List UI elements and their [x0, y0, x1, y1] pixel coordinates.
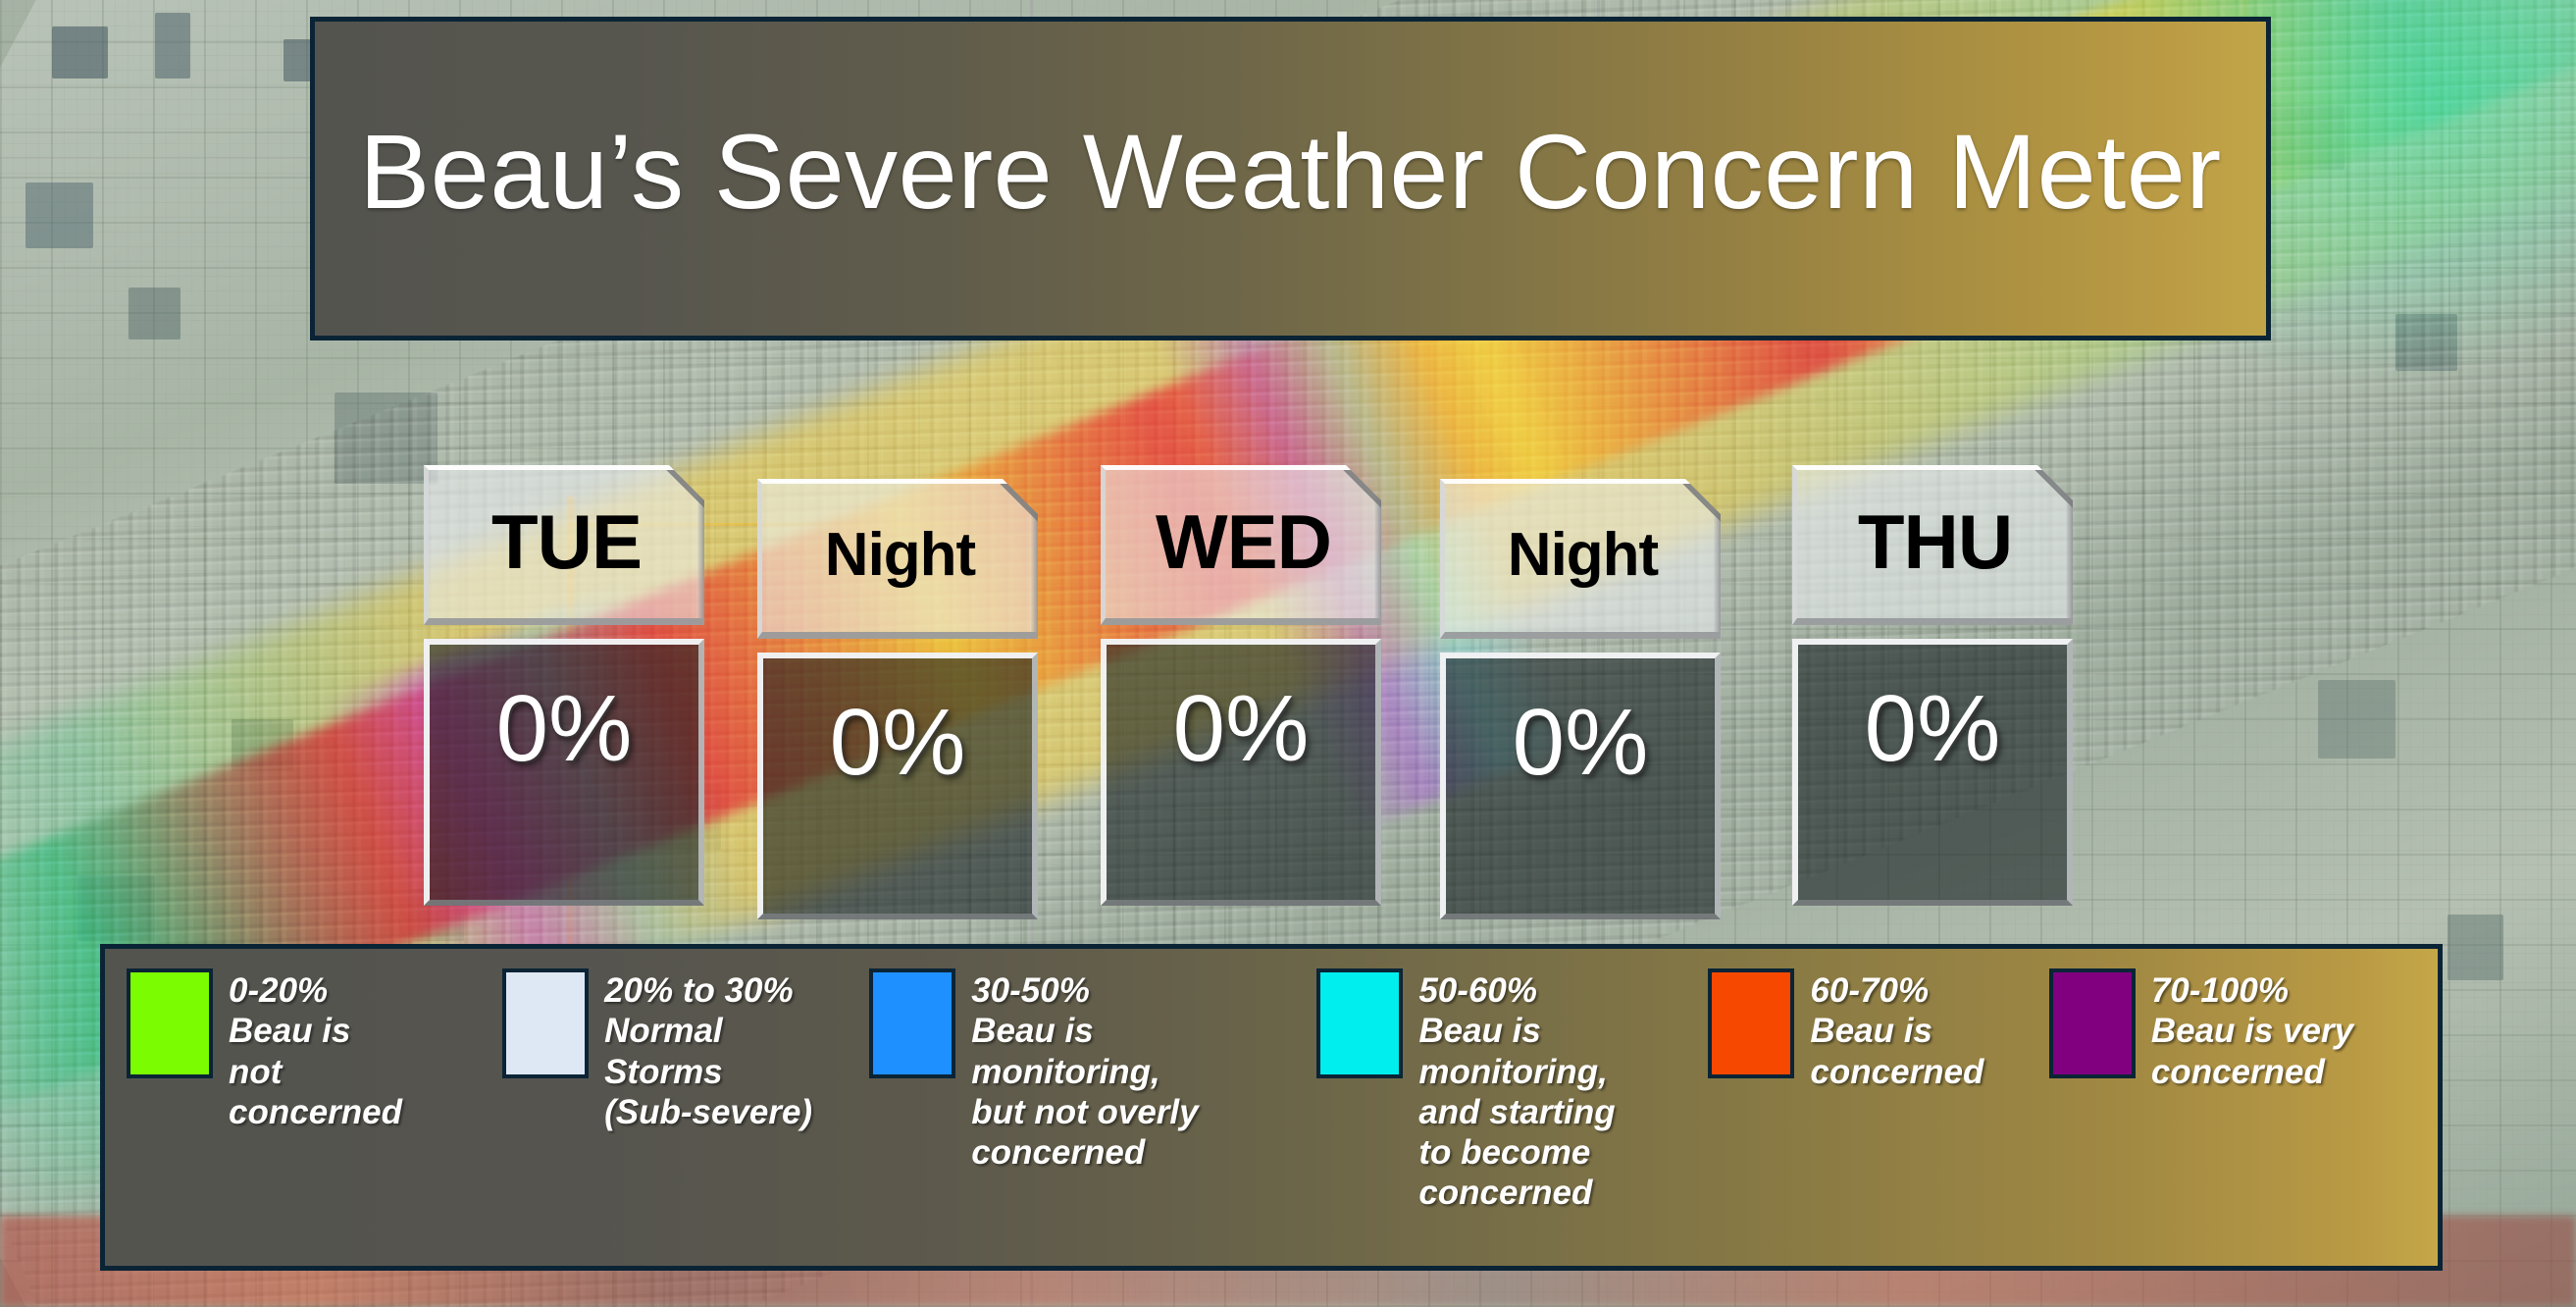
legend-label: 20% to 30% Normal Storms (Sub-severe): [604, 968, 812, 1132]
legend-color-swatch: [2049, 968, 2136, 1078]
concern-percent-value: 0%: [1173, 645, 1310, 776]
concern-percent-value: 0%: [1513, 658, 1649, 790]
forecast-column: TUE 0%: [424, 465, 704, 906]
legend-description: Beau is concerned: [1810, 1012, 1984, 1090]
legend-color-swatch: [1708, 968, 1794, 1078]
legend-description: Beau is monitoring, and starting to beco…: [1418, 1012, 1615, 1212]
concern-percent-value: 0%: [830, 658, 966, 790]
legend-range: 70-100%: [2151, 971, 2289, 1010]
concern-scale-legend: 0-20% Beau is not concerned 20% to 30% N…: [100, 944, 2443, 1271]
concern-percent-value: 0%: [1865, 645, 2001, 776]
forecast-column: THU 0%: [1792, 465, 2073, 906]
legend-description: Beau is not concerned: [229, 1012, 402, 1131]
period-label-chip[interactable]: WED: [1101, 465, 1381, 625]
legend-item: 50-60% Beau is monitoring, and starting …: [1316, 968, 1708, 1248]
legend-label: 60-70% Beau is concerned: [1810, 968, 1984, 1092]
legend-range: 50-60%: [1418, 971, 1537, 1010]
weather-graphic: Beau’s Severe Weather Concern Meter TUE …: [0, 0, 2576, 1307]
period-label: THU: [1858, 503, 2012, 586]
concern-percent-panel[interactable]: 0%: [424, 639, 704, 906]
concern-percent-panel[interactable]: 0%: [1792, 639, 2073, 906]
legend-item: 30-50% Beau is monitoring, but not overl…: [869, 968, 1316, 1248]
period-label: TUE: [491, 503, 642, 586]
legend-label: 50-60% Beau is monitoring, and starting …: [1418, 968, 1615, 1214]
legend-item: 70-100% Beau is very concerned: [2049, 968, 2416, 1248]
legend-label: 30-50% Beau is monitoring, but not overl…: [971, 968, 1198, 1173]
legend-color-swatch: [502, 968, 589, 1078]
legend-color-swatch: [127, 968, 213, 1078]
concern-percent-value: 0%: [496, 645, 633, 776]
legend-color-swatch: [869, 968, 955, 1078]
forecast-column: WED 0%: [1101, 465, 1381, 906]
concern-percent-panel[interactable]: 0%: [757, 653, 1038, 919]
legend-range: 60-70%: [1810, 971, 1929, 1010]
forecast-column: Night 0%: [1440, 479, 1721, 919]
legend-label: 70-100% Beau is very concerned: [2151, 968, 2353, 1092]
period-label-chip[interactable]: Night: [757, 479, 1038, 639]
legend-range: 0-20%: [229, 971, 328, 1010]
legend-item: 0-20% Beau is not concerned: [127, 968, 502, 1248]
legend-range: 20% to 30%: [604, 971, 794, 1010]
period-label: Night: [1508, 525, 1658, 592]
legend-item: 20% to 30% Normal Storms (Sub-severe): [502, 968, 869, 1248]
legend-description: Beau is monitoring, but not overly conce…: [971, 1012, 1198, 1172]
period-label: Night: [825, 525, 975, 592]
period-label-chip[interactable]: TUE: [424, 465, 704, 625]
legend-label: 0-20% Beau is not concerned: [229, 968, 402, 1132]
period-label-chip[interactable]: THU: [1792, 465, 2073, 625]
concern-percent-panel[interactable]: 0%: [1101, 639, 1381, 906]
legend-range: 30-50%: [971, 971, 1090, 1010]
legend-description: Beau is very concerned: [2151, 1012, 2353, 1090]
period-label-chip[interactable]: Night: [1440, 479, 1721, 639]
legend-color-swatch: [1316, 968, 1403, 1078]
legend-item: 60-70% Beau is concerned: [1708, 968, 2048, 1248]
period-label: WED: [1156, 503, 1331, 586]
concern-percent-panel[interactable]: 0%: [1440, 653, 1721, 919]
forecast-column: Night 0%: [757, 479, 1038, 919]
legend-description: Normal Storms (Sub-severe): [604, 1012, 812, 1131]
